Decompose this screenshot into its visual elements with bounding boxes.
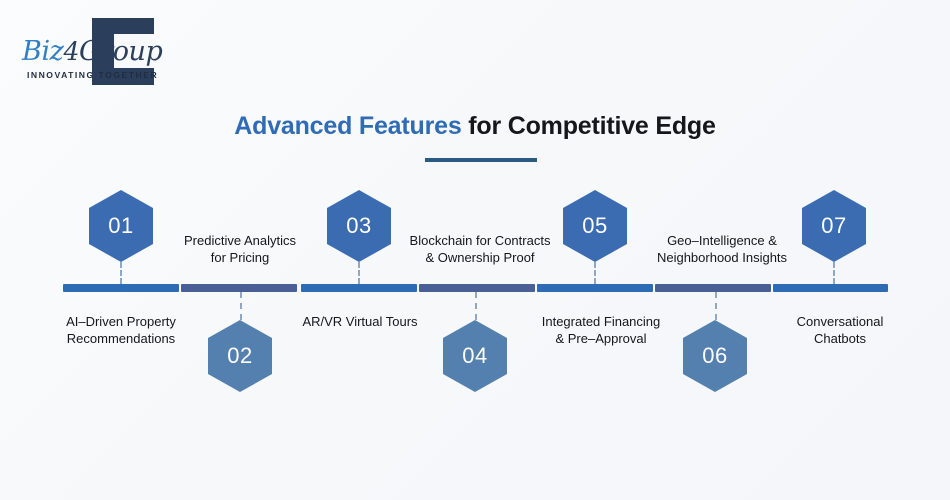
timeline-bar-segment bbox=[419, 284, 535, 292]
step-number: 05 bbox=[582, 213, 607, 239]
step-hexagon-05[interactable]: 05 bbox=[563, 190, 627, 262]
timeline-connector-line bbox=[715, 292, 717, 320]
step-hexagon-04[interactable]: 04 bbox=[443, 320, 507, 392]
step-hexagon-01[interactable]: 01 bbox=[89, 190, 153, 262]
timeline-connector-line bbox=[240, 292, 242, 320]
timeline-bar-segment bbox=[181, 284, 297, 292]
step-number: 04 bbox=[462, 343, 487, 369]
step-hexagon-03[interactable]: 03 bbox=[327, 190, 391, 262]
step-label: AI–Driven Property Recommendations bbox=[41, 313, 201, 347]
timeline-connector-line bbox=[475, 292, 477, 320]
step-hexagon-06[interactable]: 06 bbox=[683, 320, 747, 392]
step-label: Geo–Intelligence & Neighborhood Insights bbox=[632, 232, 812, 266]
timeline-bar-segment bbox=[537, 284, 653, 292]
logo-word-biz: Biz bbox=[22, 36, 64, 67]
timeline-connector-line bbox=[358, 262, 360, 284]
step-label: Integrated Financing & Pre–Approval bbox=[520, 313, 682, 347]
step-label: Blockchain for Contracts & Ownership Pro… bbox=[390, 232, 570, 266]
logo-word-group: Group bbox=[79, 36, 162, 67]
timeline-bar-segment bbox=[301, 284, 417, 292]
step-hexagon-02[interactable]: 02 bbox=[208, 320, 272, 392]
timeline-connector-line bbox=[120, 262, 122, 284]
step-label: Predictive Analytics for Pricing bbox=[160, 232, 320, 266]
timeline-connector-line bbox=[594, 262, 596, 284]
step-number: 07 bbox=[821, 213, 846, 239]
step-number: 03 bbox=[346, 213, 371, 239]
logo-word-four: 4 bbox=[64, 37, 80, 66]
step-label: AR/VR Virtual Tours bbox=[278, 313, 442, 330]
timeline-bar-segment bbox=[655, 284, 771, 292]
step-label: Conversational Chatbots bbox=[760, 313, 920, 347]
timeline-bar-segment bbox=[773, 284, 888, 292]
logo-wordmark: Biz4Group bbox=[22, 36, 162, 67]
step-number: 01 bbox=[108, 213, 133, 239]
timeline-bar-segment bbox=[63, 284, 179, 292]
timeline-connector-line bbox=[833, 262, 835, 284]
logo-tagline: INNOVATING TOGETHER bbox=[27, 70, 158, 80]
step-number: 06 bbox=[702, 343, 727, 369]
step-number: 02 bbox=[227, 343, 252, 369]
